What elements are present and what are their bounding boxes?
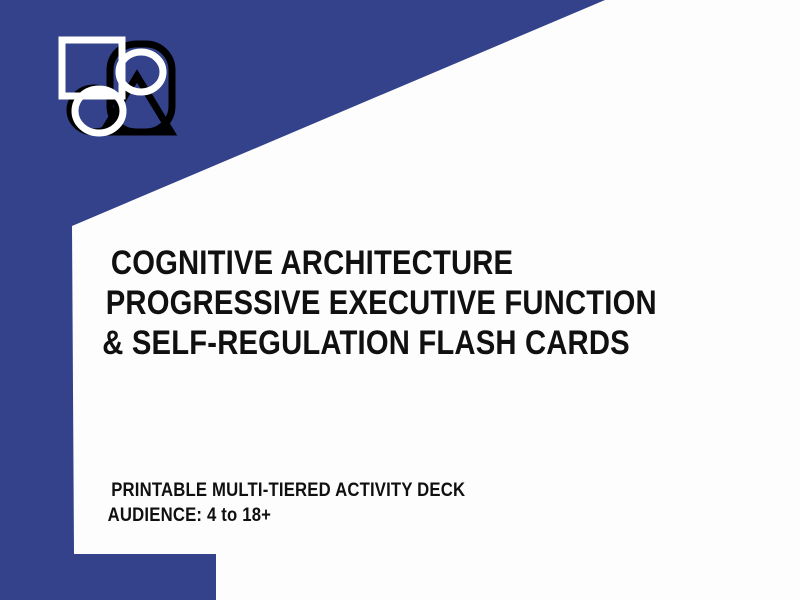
subtitle-line-2: AUDIENCE: 4 to 18+ <box>98 503 591 528</box>
title-line-3: & SELF-REGULATION FLASH CARDS <box>98 323 631 363</box>
page-title: COGNITIVE ARCHITECTURE PROGRESSIVE EXECU… <box>98 243 718 363</box>
subtitle: PRINTABLE MULTI-TIERED ACTIVITY DECK AUD… <box>98 478 658 528</box>
abstract-shapes-logo <box>55 28 190 148</box>
cover-page: COGNITIVE ARCHITECTURE PROGRESSIVE EXECU… <box>0 0 800 600</box>
title-line-1: COGNITIVE ARCHITECTURE <box>98 243 631 283</box>
subtitle-line-1: PRINTABLE MULTI-TIERED ACTIVITY DECK <box>98 478 591 503</box>
title-line-2: PROGRESSIVE EXECUTIVE FUNCTION <box>98 283 631 323</box>
